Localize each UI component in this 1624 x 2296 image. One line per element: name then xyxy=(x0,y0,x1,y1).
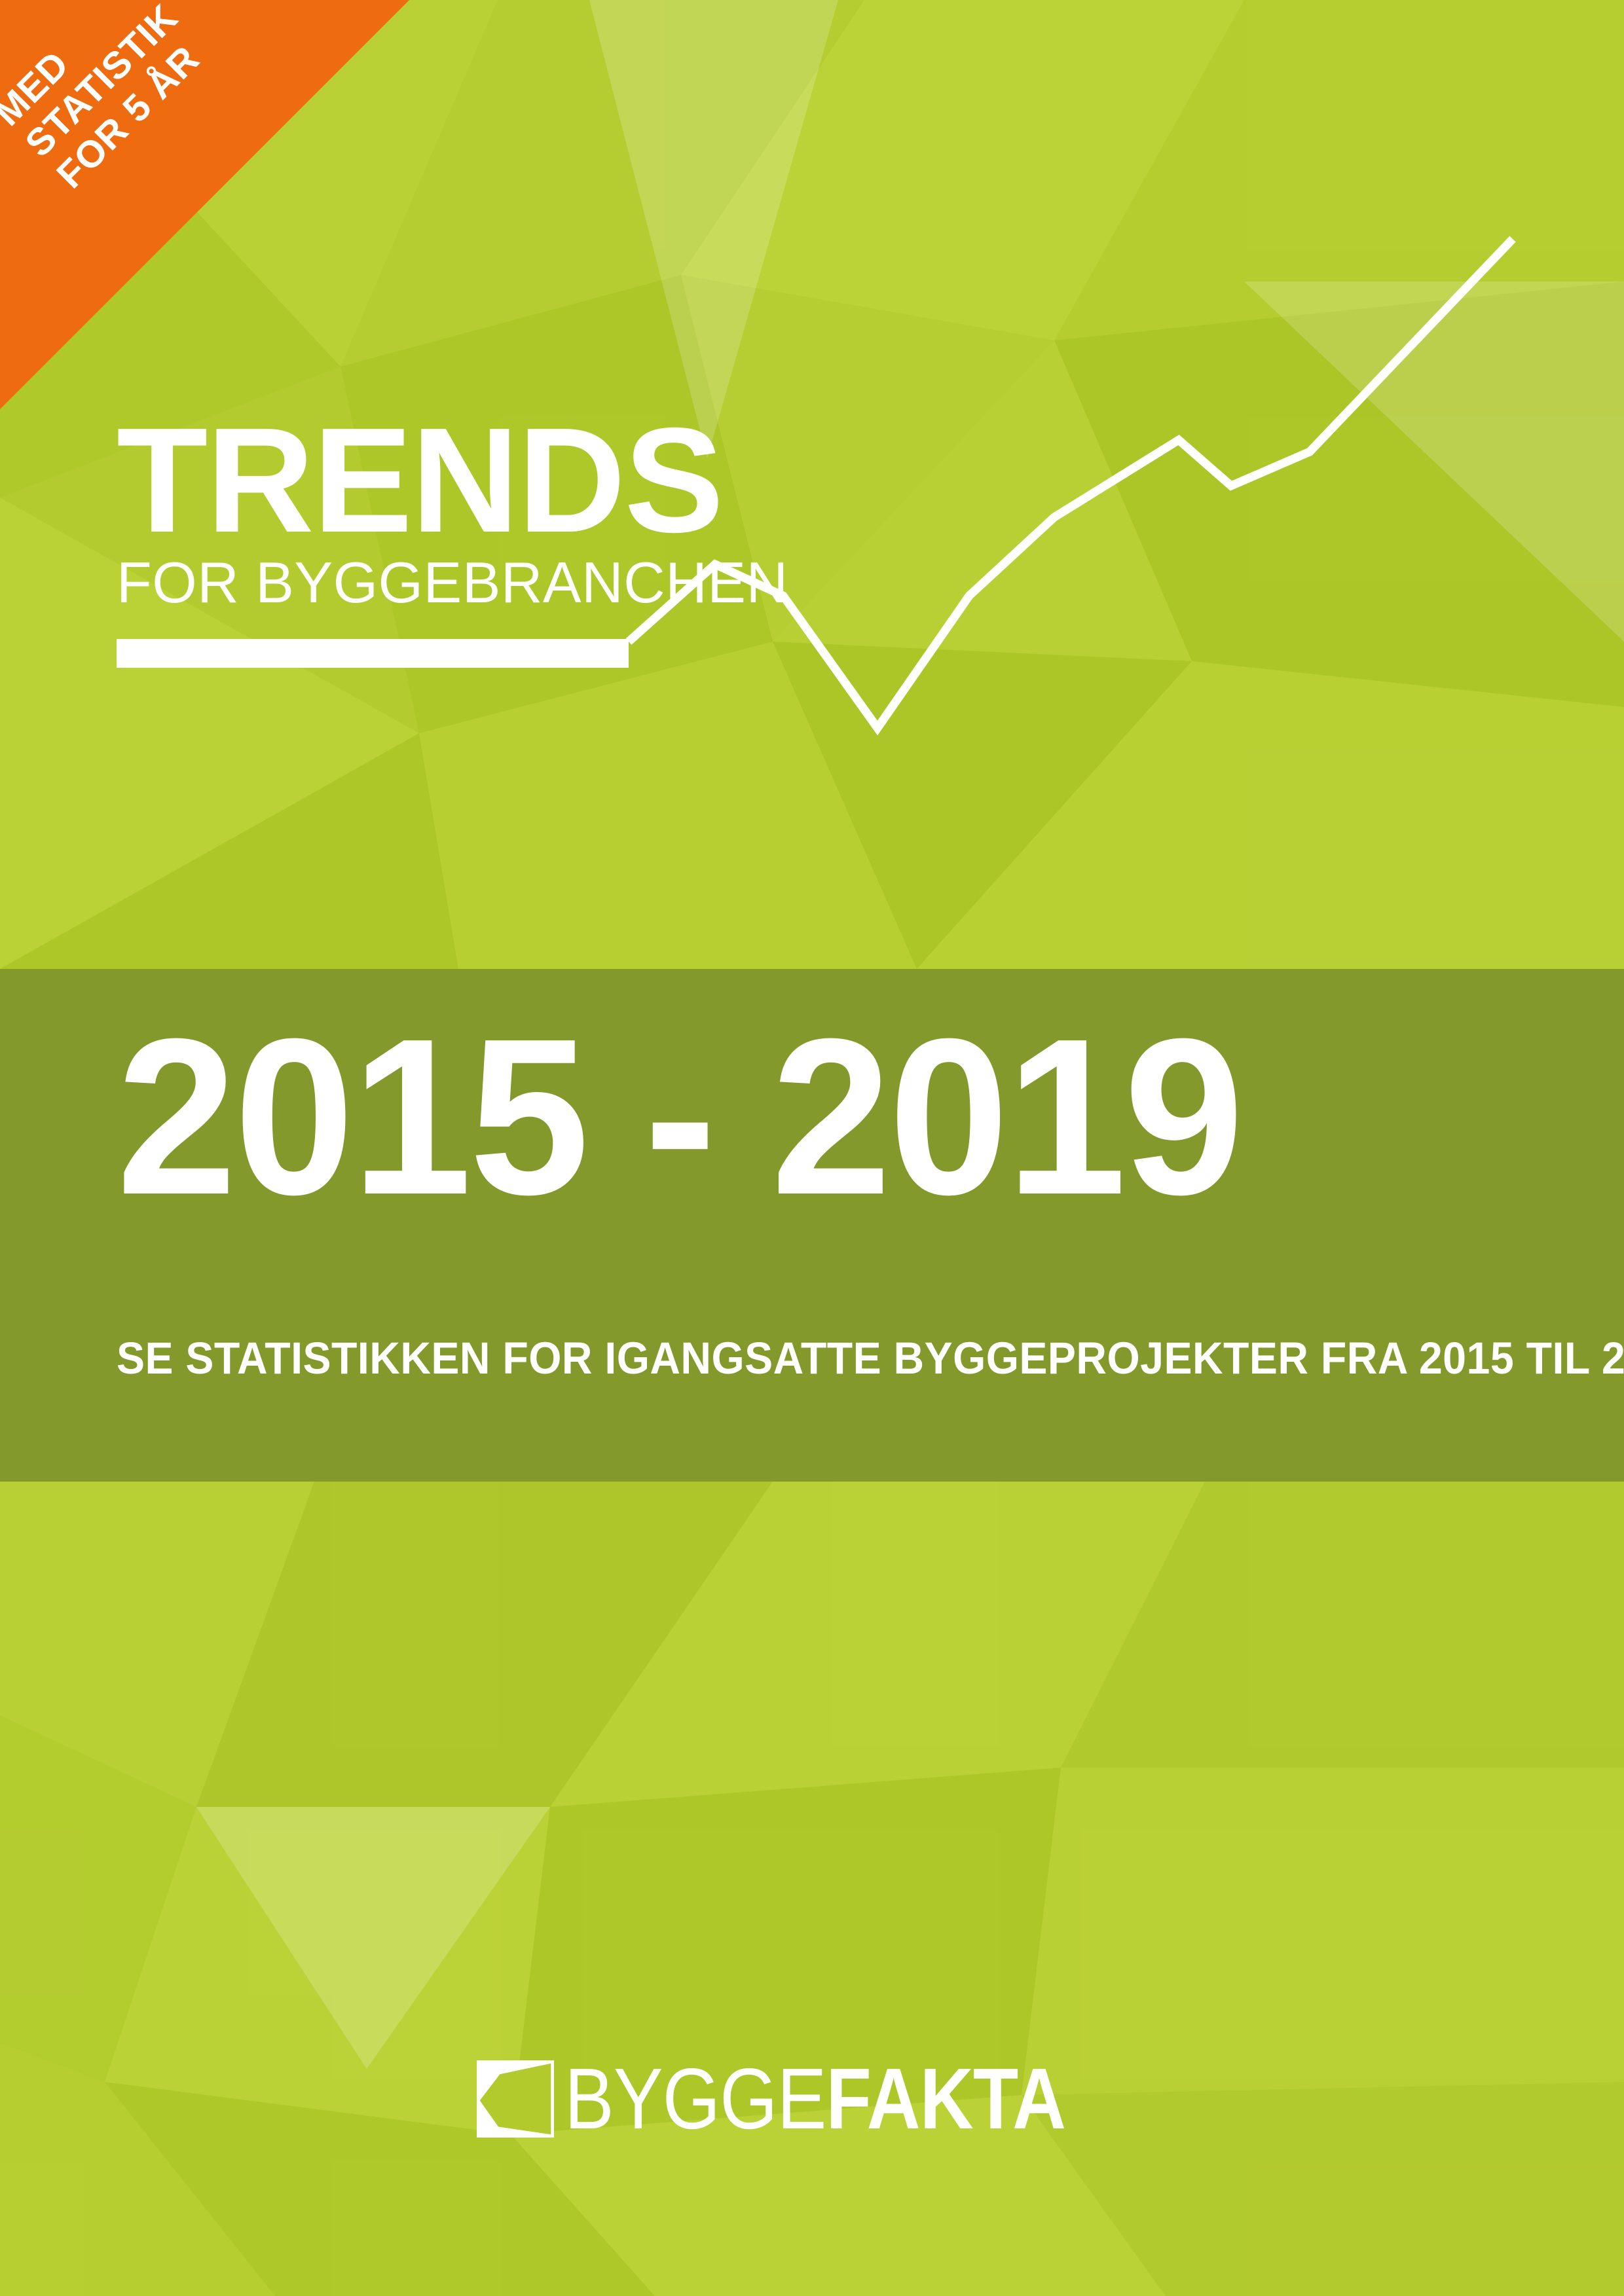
year-band-content: 2015 - 2019 SE STATISTIKKEN FOR IGANGSAT… xyxy=(117,969,1531,1482)
logo-word-fakta: FAKTA xyxy=(826,2050,1066,2147)
page-subtitle: FOR BYGGEBRANCHEN xyxy=(117,554,1033,611)
page-title: TRENDS xyxy=(117,412,1033,550)
bracket-square-icon xyxy=(477,2060,554,2138)
title-block: TRENDS FOR BYGGEBRANCHEN xyxy=(117,412,1033,668)
year-range: 2015 - 2019 xyxy=(117,1006,1242,1228)
year-band-caption: SE STATISTIKKEN FOR IGANGSATTE BYGGEPROJ… xyxy=(117,1332,1624,1384)
byggefakta-logo: BYGGEFAKTA xyxy=(0,2056,1624,2142)
year-band: 2015 - 2019 SE STATISTIKKEN FOR IGANGSAT… xyxy=(0,969,1624,1482)
logo-wordmark: BYGGEFAKTA xyxy=(564,2056,1065,2142)
logo-word-bygge: BYGGE xyxy=(564,2050,826,2147)
report-cover: MED STATISTIK FOR 5 ÅR TRENDS FOR BYGGEB… xyxy=(0,0,1624,2296)
title-underline-rule xyxy=(117,639,629,668)
